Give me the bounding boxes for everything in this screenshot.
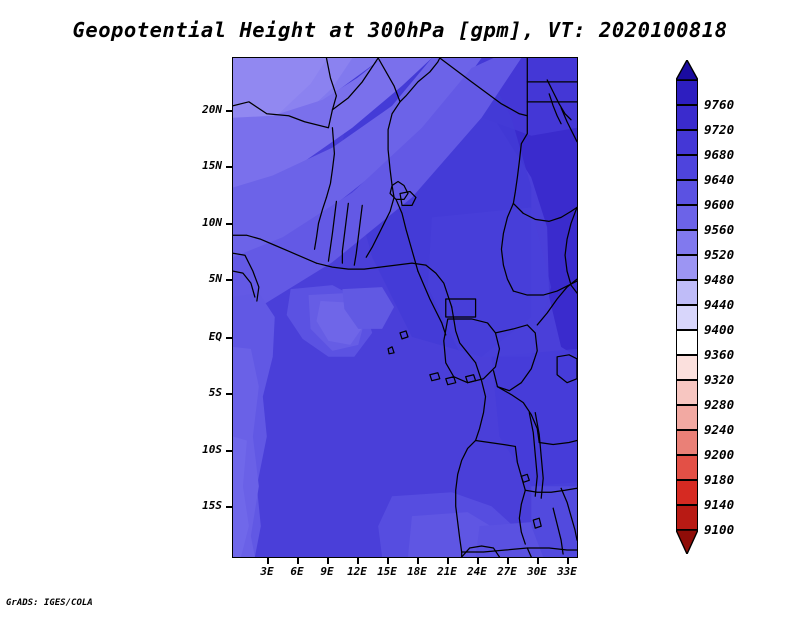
ytick-label-eq: EQ [186,330,222,343]
ytick-mark [226,279,233,281]
ytick-label-15n: 15N [186,159,222,172]
colorbar-bottom-arrow [676,530,698,554]
colorbar-swatch [676,205,698,230]
colorbar-tick-label: 9360 [704,347,734,362]
ytick-label-10n: 10N [186,216,222,229]
xtick-mark [387,558,389,564]
colorbar-swatch [676,155,698,180]
credit-label: GrADS: IGES/COLA [6,598,93,608]
colorbar-swatch [676,405,698,430]
xtick-label-33e: 33E [547,565,587,578]
colorbar-tick-label: 9100 [704,522,734,537]
xtick-mark [567,558,569,564]
ytick-mark [226,223,233,225]
xtick-mark [297,558,299,564]
xtick-mark [357,558,359,564]
colorbar-tick-label: 9480 [704,272,734,287]
colorbar-tick-label: 9400 [704,322,734,337]
xtick-mark [537,558,539,564]
ytick-mark [226,337,233,339]
colorbar-tick-label: 9440 [704,297,734,312]
colorbar-tick-label: 9240 [704,422,734,437]
ytick-mark [226,393,233,395]
colorbar-swatch [676,230,698,255]
ytick-label-20n: 20N [186,103,222,116]
colorbar-swatch [676,330,698,355]
page-title: Geopotential Height at 300hPa [gpm], VT:… [0,18,800,42]
ytick-mark [226,450,233,452]
xtick-mark [447,558,449,564]
colorbar-tick-label: 9760 [704,97,734,112]
colorbar-tick-label: 9640 [704,172,734,187]
colorbar-swatch [676,105,698,130]
map-plot-area [232,57,578,558]
colorbar-tick-label: 9320 [704,372,734,387]
xtick-mark [507,558,509,564]
xtick-mark [477,558,479,564]
xtick-mark [327,558,329,564]
colorbar-swatch [676,505,698,530]
chart-canvas: Geopotential Height at 300hPa [gpm], VT:… [0,0,800,618]
ytick-mark [226,166,233,168]
colorbar-swatch [676,255,698,280]
colorbar-tick-label: 9600 [704,197,734,212]
ytick-label-5n: 5N [186,272,222,285]
ytick-label-10s: 10S [186,443,222,456]
xtick-mark [267,558,269,564]
colorbar-tick-label: 9680 [704,147,734,162]
ytick-mark [226,506,233,508]
colorbar-swatch [676,130,698,155]
colorbar-tick-label: 9520 [704,247,734,262]
ytick-label-5s: 5S [186,386,222,399]
colorbar-tick-label: 9720 [704,122,734,137]
colorbar-swatch [676,180,698,205]
map-field-svg [233,58,577,557]
colorbar-swatch [676,80,698,105]
colorbar-tick-label: 9560 [704,222,734,237]
colorbar-swatch [676,480,698,505]
colorbar-tick-label: 9280 [704,397,734,412]
colorbar-tick-label: 9180 [704,472,734,487]
ytick-label-15s: 15S [186,499,222,512]
colorbar[interactable]: 9760972096809640960095609520948094409400… [668,60,788,560]
colorbar-swatch [676,280,698,305]
colorbar-swatch [676,380,698,405]
colorbar-tick-label: 9140 [704,497,734,512]
colorbar-tick-label: 9200 [704,447,734,462]
colorbar-top-arrow [676,60,698,80]
xtick-mark [417,558,419,564]
colorbar-swatch [676,305,698,330]
colorbar-swatch [676,455,698,480]
colorbar-swatch [676,355,698,380]
colorbar-swatch [676,430,698,455]
ytick-mark [226,110,233,112]
